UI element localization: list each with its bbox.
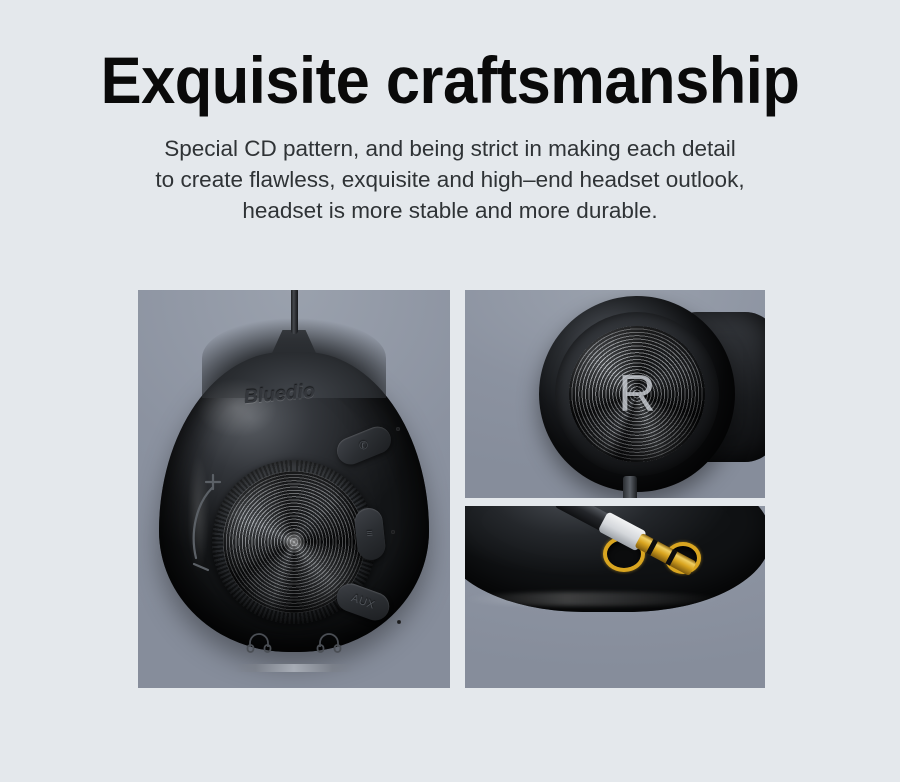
headphone-icon (246, 633, 272, 653)
menu-button[interactable]: ≡ (353, 507, 386, 562)
led-indicator (396, 427, 400, 431)
description-line-3: headset is more stable and more durable. (0, 195, 900, 226)
led-indicator (397, 620, 401, 624)
audio-cable (291, 290, 298, 334)
menu-button-label: ≡ (353, 507, 386, 562)
earbud-housing: R (539, 296, 735, 492)
earbud-outer-ring: R (555, 312, 719, 476)
led-indicator (391, 530, 395, 534)
headphone-icon (316, 633, 342, 653)
port-icon-row (246, 630, 342, 656)
description-line-2: to create flawless, exquisite and high–e… (0, 164, 900, 195)
earbud-stem (623, 476, 637, 498)
volume-indicator (182, 468, 246, 604)
channel-marking-r: R (618, 368, 656, 420)
page-description: Special CD pattern, and being strict in … (0, 133, 900, 226)
page-title: Exquisite craftsmanship (32, 44, 869, 116)
marketing-page: Exquisite craftsmanship Special CD patte… (0, 0, 900, 782)
product-photo-audio-jack (465, 506, 765, 688)
product-photo-control-module: Bluedio ✆ ≡ AUX (138, 290, 450, 688)
description-line-1: Special CD pattern, and being strict in … (0, 133, 900, 164)
module-base-edge (234, 664, 354, 672)
product-photo-earbud: R (465, 290, 765, 498)
